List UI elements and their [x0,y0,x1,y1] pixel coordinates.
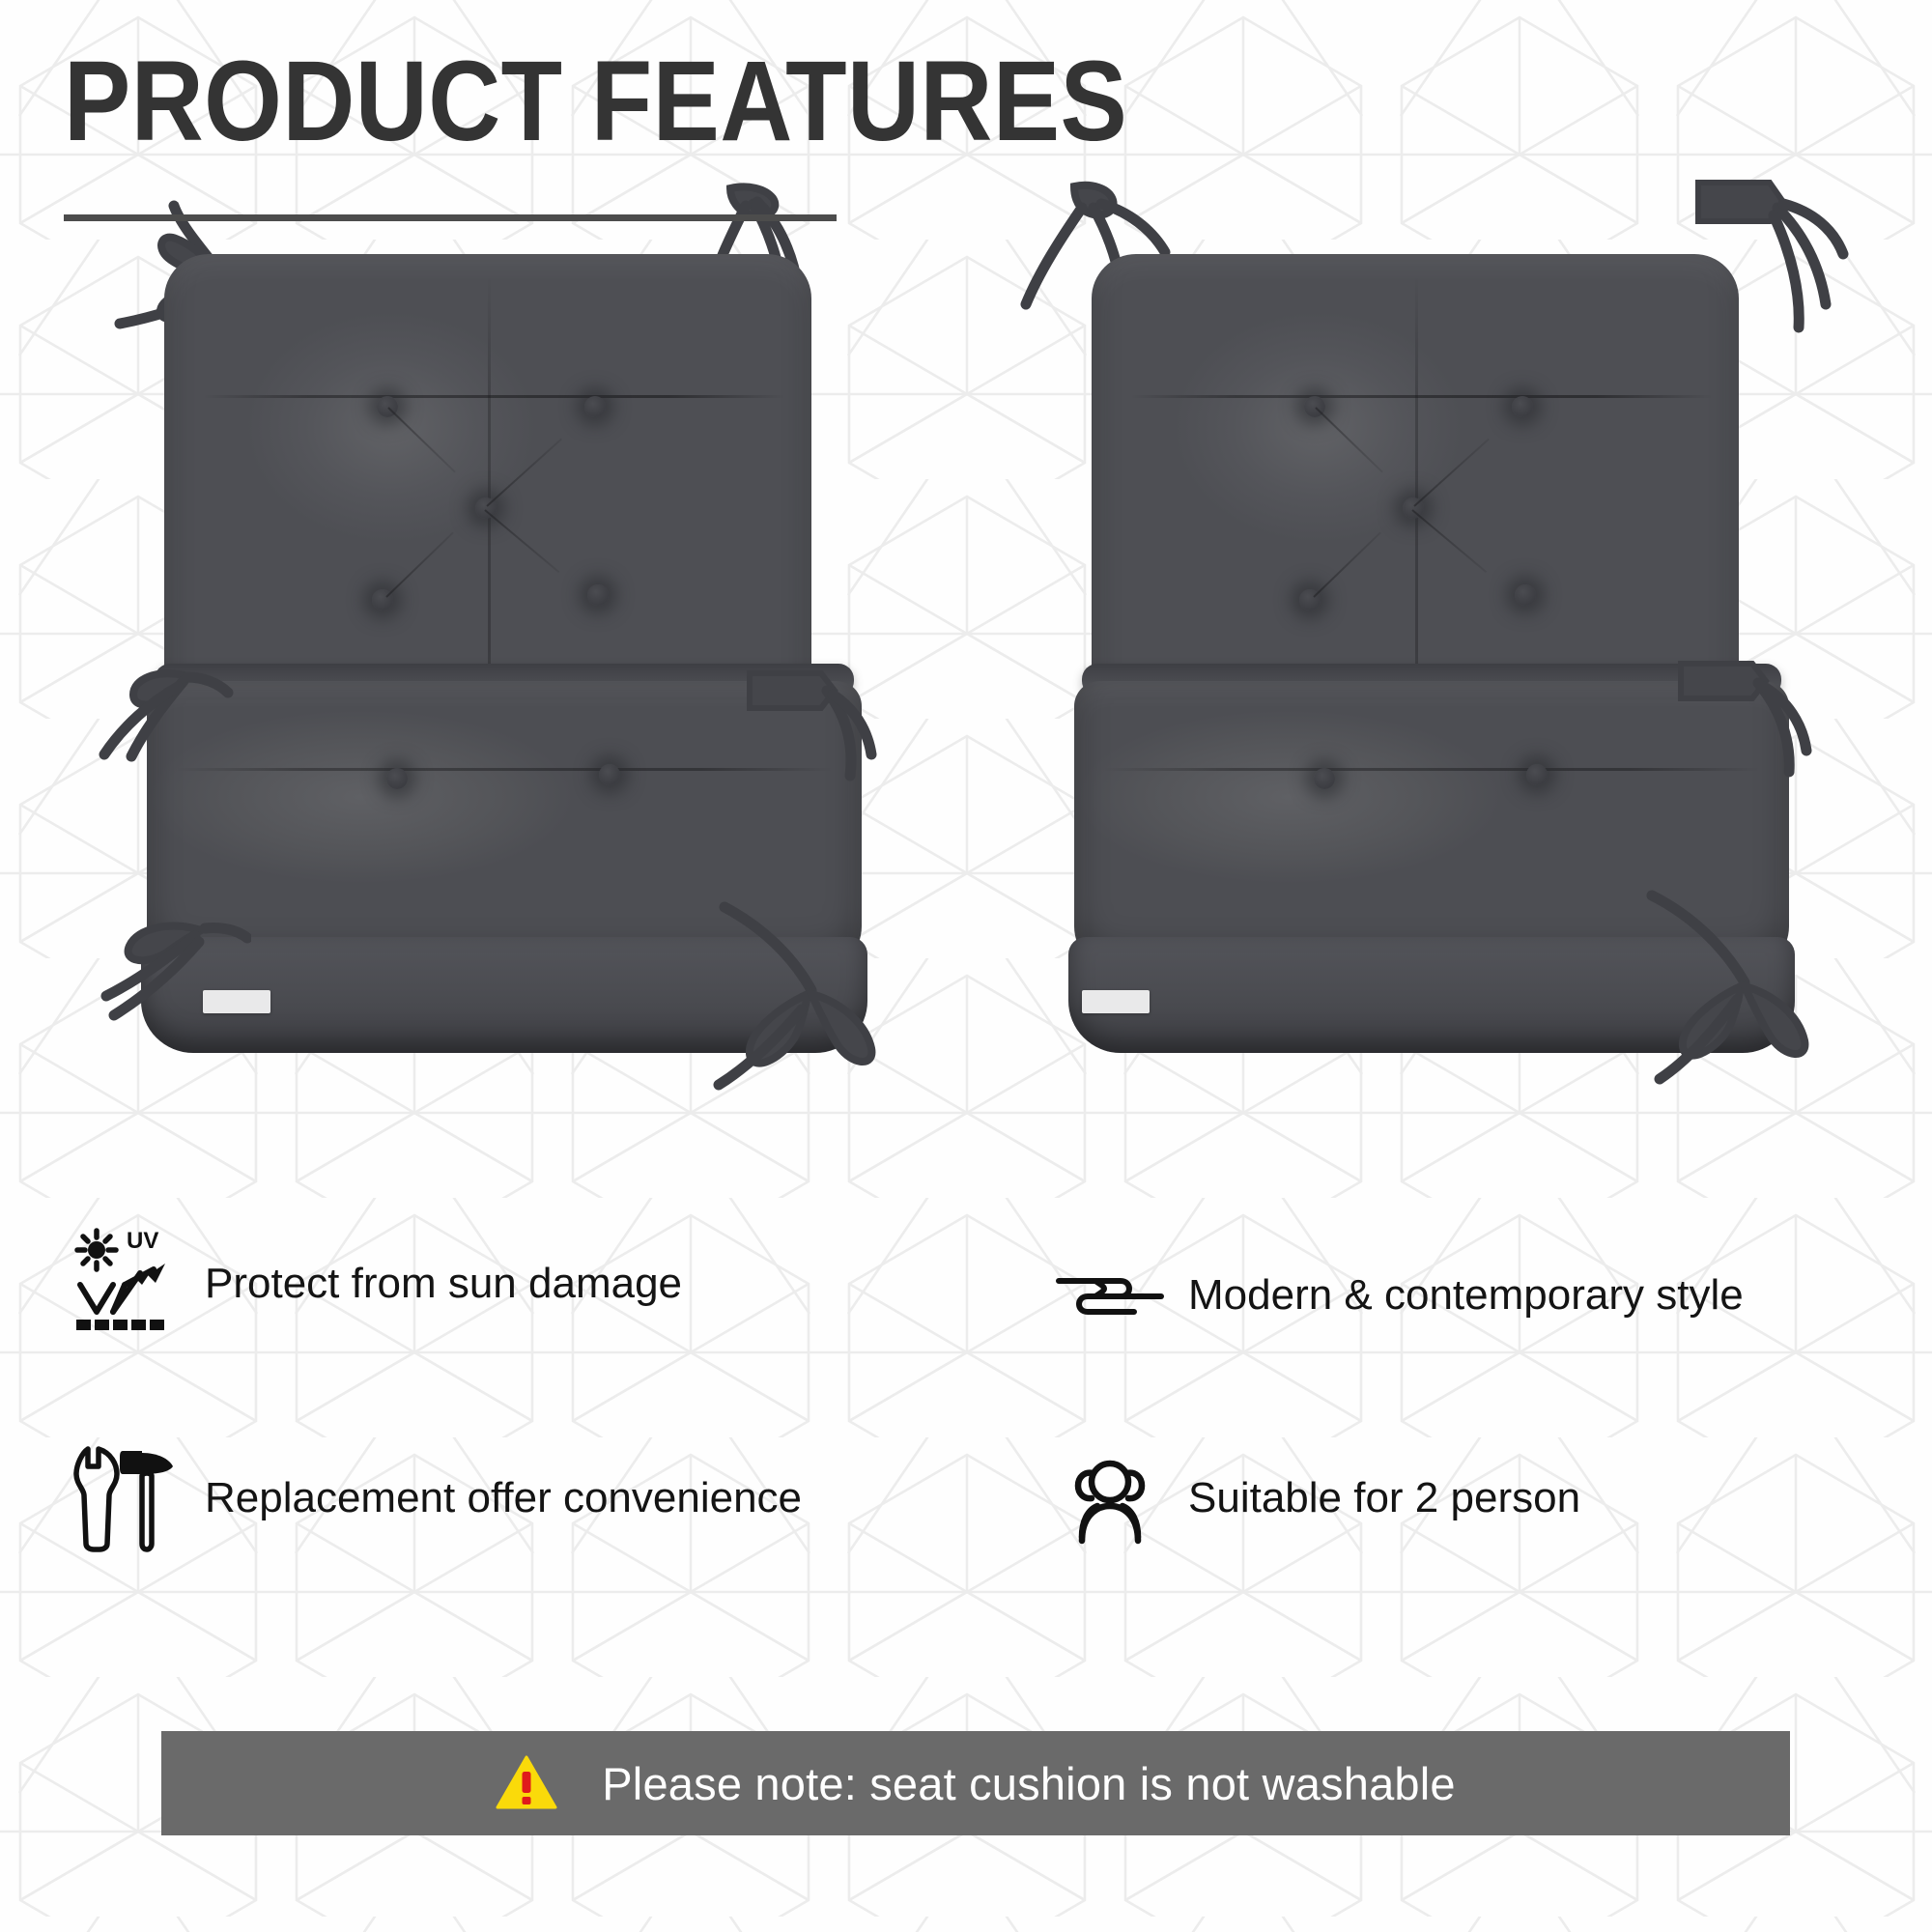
product-image [0,227,1932,1212]
tie-bow-bottom-right [1584,884,1845,1096]
people-group-icon [1053,1436,1167,1560]
tuft-button [584,396,606,417]
feature-item-replacement: Replacement offer convenience [60,1436,802,1560]
tie-bow-bottom-right [657,894,908,1106]
feature-item-sun-protection: UV [60,1222,682,1346]
notice-banner: Please note: seat cushion is not washabl… [161,1731,1790,1835]
tie-bow-bottom-left [29,874,251,1048]
tuft-button [1515,584,1536,606]
feature-item-modern-style: Modern & contemporary style [1053,1234,1744,1357]
feature-label: Protect from sun damage [205,1260,682,1308]
tie-bow-mid-left [48,642,241,807]
wrench-hammer-tools-icon [60,1436,184,1560]
feature-list: UV [0,1212,1932,1666]
tuft-button [1314,768,1335,789]
tuft-button [1526,764,1548,785]
page-title-block: PRODUCT FEATURES [64,44,1272,158]
product-features-page: PRODUCT FEATURES [0,0,1932,1932]
tuft-button [587,584,609,606]
care-label-tag [1082,990,1150,1013]
title-underline-rule [64,214,837,221]
tuft-button [386,768,408,789]
modern-style-wave-icon [1053,1234,1167,1357]
tie-bow-mid-right [657,652,879,816]
cushion-right [985,227,1855,1212]
uv-badge-label: UV [127,1228,158,1254]
uv-sun-protection-icon: UV [60,1222,184,1346]
page-title: PRODUCT FEATURES [64,44,1127,158]
tuft-button [1512,396,1533,417]
feature-label: Replacement offer convenience [205,1474,802,1522]
warning-triangle-icon [496,1755,557,1811]
feature-label: Suitable for 2 person [1188,1474,1580,1522]
tuft-button [599,764,620,785]
feature-item-capacity: Suitable for 2 person [1053,1436,1580,1560]
cushion-left [58,227,927,1212]
tie-bow-mid-right [1604,642,1826,816]
notice-text: Please note: seat cushion is not washabl… [602,1757,1455,1810]
feature-label: Modern & contemporary style [1188,1271,1744,1320]
